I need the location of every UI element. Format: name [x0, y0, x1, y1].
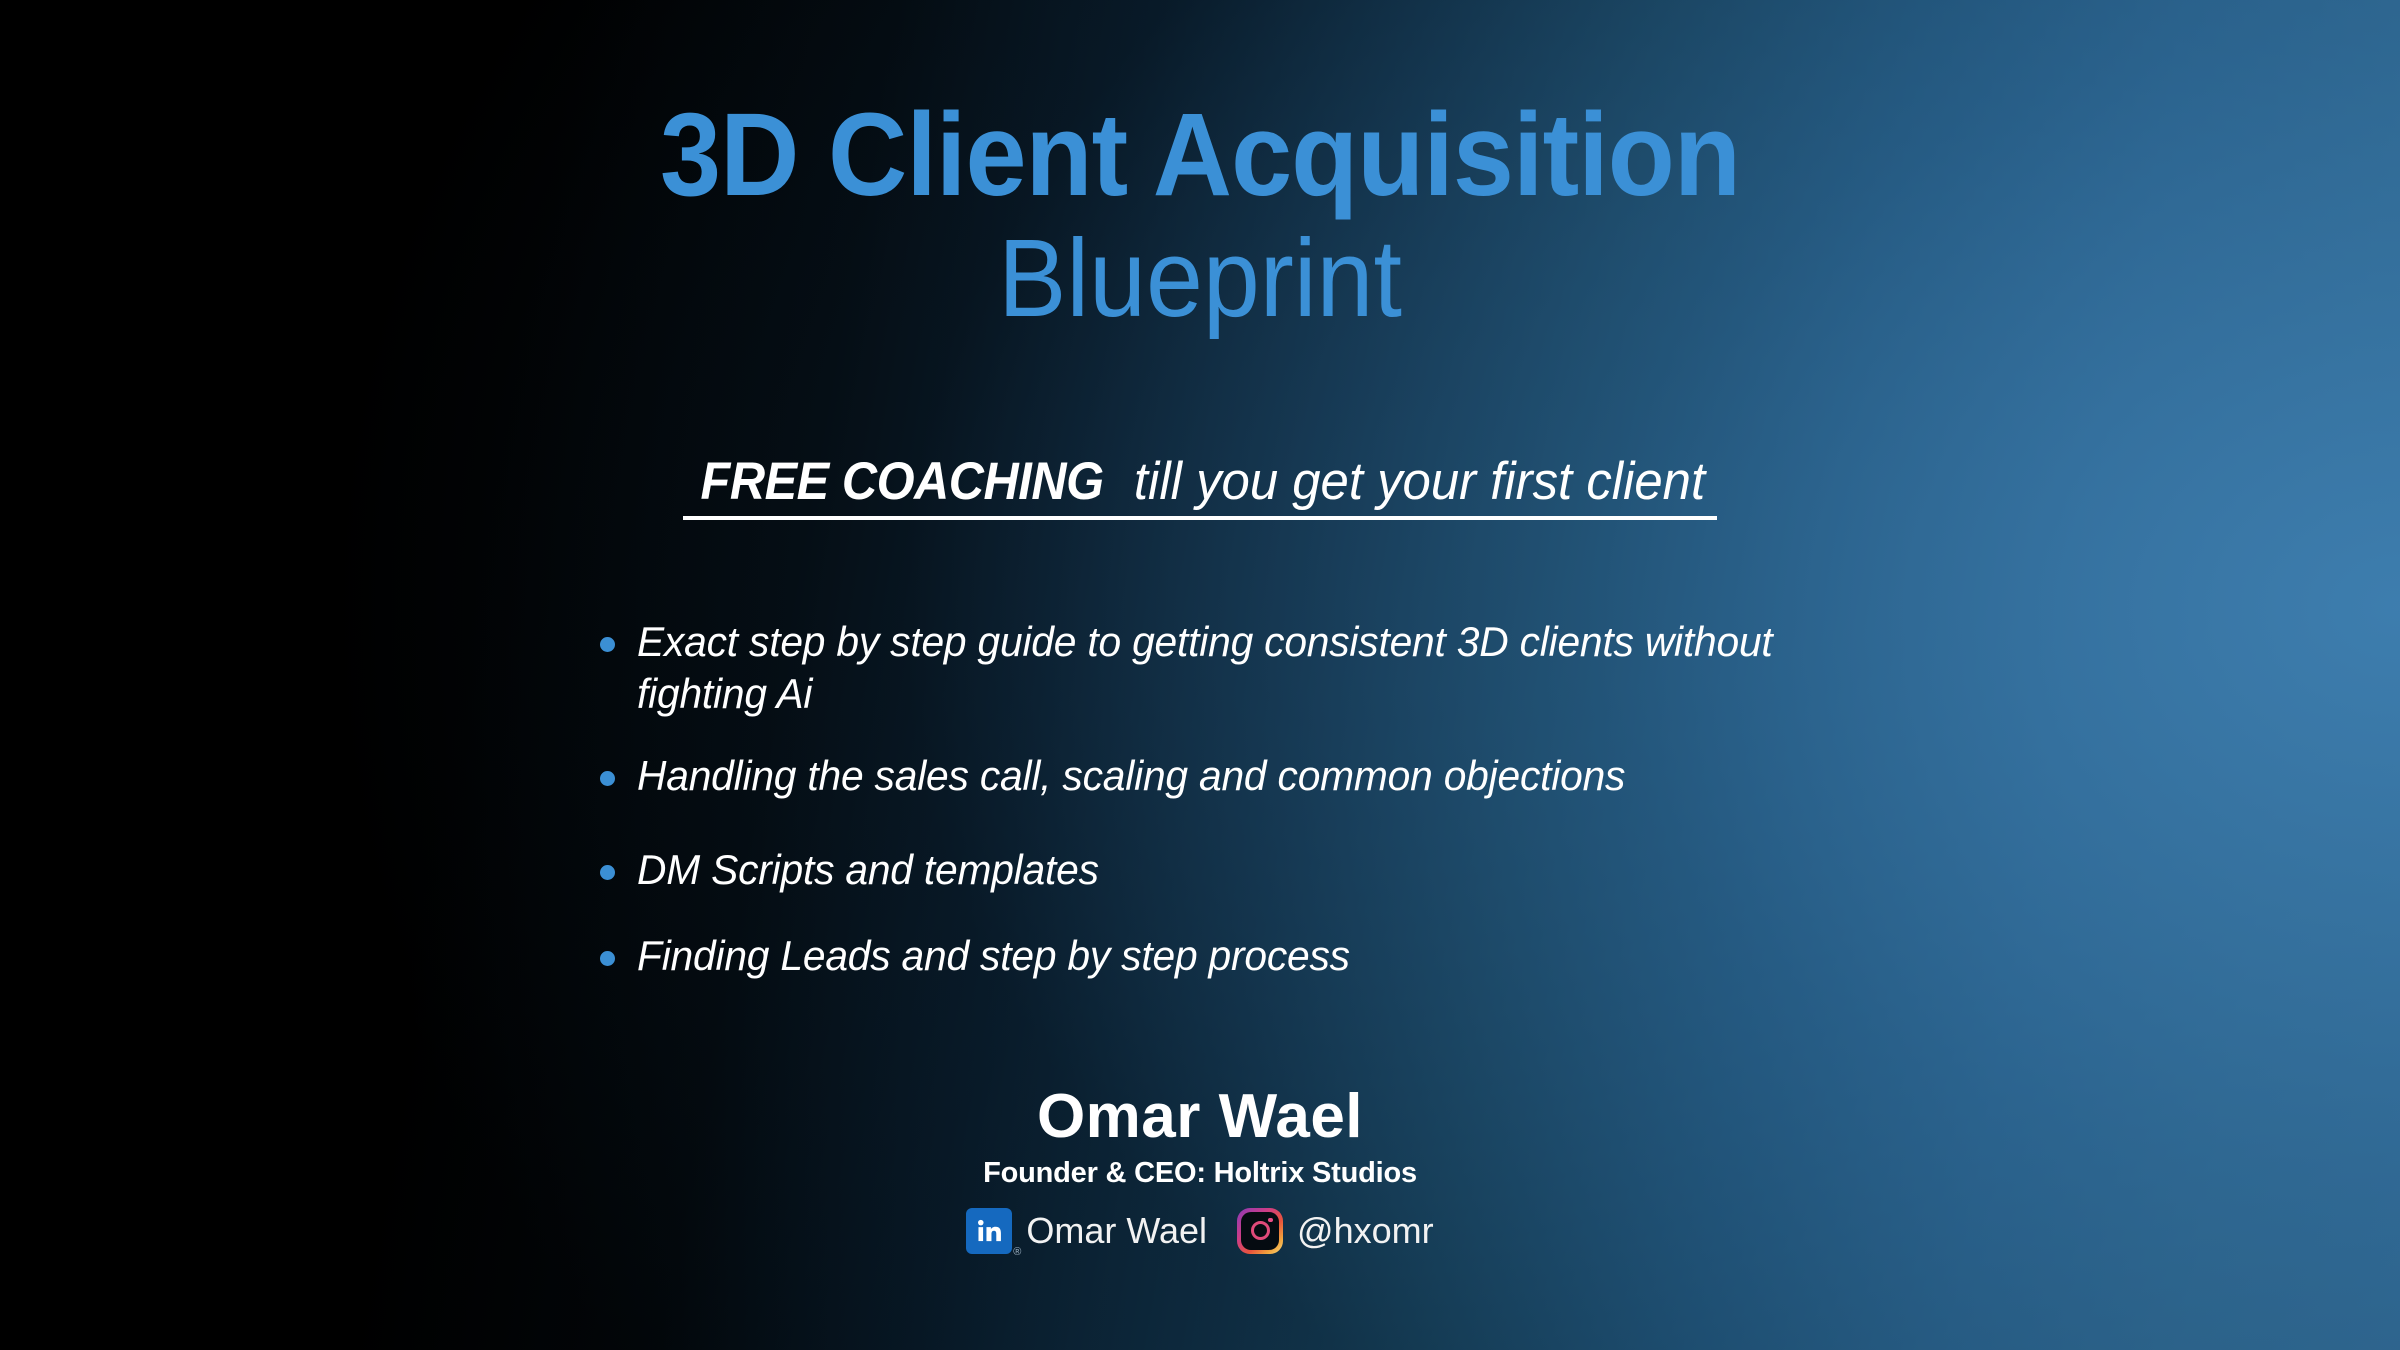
list-item-label: Handling the sales call, scaling and com…	[637, 750, 1625, 802]
instagram-icon[interactable]	[1237, 1208, 1283, 1254]
list-item: DM Scripts and templates	[600, 844, 1900, 896]
presenter-role: Founder & CEO: Holtrix Studios	[0, 1158, 2400, 1190]
presenter-name: Omar Wael	[0, 1084, 2400, 1149]
social-link-linkedin[interactable]: ® Omar Wael	[966, 1208, 1207, 1254]
social-link-label: Omar Wael	[1026, 1210, 1207, 1252]
social-link-label: @hxomr	[1297, 1210, 1434, 1252]
social-links: ® Omar Wael @hxomr	[0, 1208, 2400, 1254]
benefit-list: Exact step by step guide to getting cons…	[600, 616, 1900, 982]
spacer	[600, 896, 1900, 930]
presenter-footer: Omar Wael Founder & CEO: Holtrix Studios…	[0, 1084, 2400, 1254]
subtitle-underline-group: FREE COACHING till you get your first cl…	[683, 452, 1716, 520]
slide-title: 3D Client Acquisition Blueprint	[0, 96, 2400, 339]
list-item-label: Finding Leads and step by step process	[637, 930, 1350, 982]
spacer	[600, 720, 1900, 750]
subtitle-emphasis: FREE COACHING	[701, 452, 1104, 513]
list-item-label: DM Scripts and templates	[637, 844, 1099, 896]
social-link-instagram[interactable]: @hxomr	[1237, 1208, 1434, 1254]
list-item-label: Exact step by step guide to getting cons…	[637, 616, 1862, 720]
linkedin-badge	[966, 1208, 1012, 1254]
spacer	[600, 802, 1900, 844]
title-line-1: 3D Client Acquisition	[84, 96, 2316, 214]
bullet-dot-icon	[600, 637, 615, 652]
presentation-slide: 3D Client Acquisition Blueprint FREE COA…	[0, 0, 2400, 1350]
instagram-badge	[1237, 1208, 1283, 1254]
bullet-dot-icon	[600, 951, 615, 966]
bullet-dot-icon	[600, 771, 615, 786]
instagram-lens-icon	[1251, 1221, 1270, 1240]
list-item: Handling the sales call, scaling and com…	[600, 750, 1900, 802]
title-line-2: Blueprint	[84, 220, 2316, 339]
list-item: Exact step by step guide to getting cons…	[600, 616, 1900, 720]
instagram-inner	[1241, 1212, 1279, 1250]
list-item: Finding Leads and step by step process	[600, 930, 1900, 982]
linkedin-icon[interactable]: ®	[966, 1208, 1012, 1254]
registered-mark-icon: ®	[1013, 1247, 1021, 1258]
subtitle-rest: till you get your first client	[1133, 452, 1704, 513]
instagram-flash-dot-icon	[1268, 1218, 1273, 1223]
slide-subtitle: FREE COACHING till you get your first cl…	[0, 452, 2400, 520]
bullet-dot-icon	[600, 865, 615, 880]
